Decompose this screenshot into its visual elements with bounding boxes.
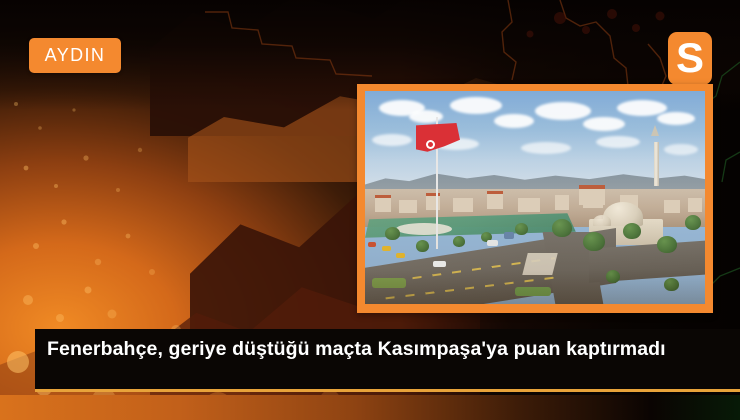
photo-vehicle xyxy=(368,242,376,247)
photo-aerial-city-view xyxy=(365,91,705,304)
brand-logo-letter: S xyxy=(676,37,704,79)
bottom-strip xyxy=(0,395,740,420)
city-badge-label: AYDIN xyxy=(45,46,106,65)
photo-vehicle xyxy=(487,240,498,246)
photo-frame xyxy=(357,84,713,313)
headline-text: Fenerbahçe, geriye düştüğü maçta Kasımpa… xyxy=(47,337,726,362)
photo-vehicle xyxy=(382,246,391,251)
photo-minaret xyxy=(654,142,659,186)
news-card: AYDIN S xyxy=(0,0,740,420)
brand-s-logo[interactable]: S xyxy=(668,32,712,85)
photo-vehicle xyxy=(504,232,514,239)
photo-vehicle xyxy=(396,253,405,258)
photo-vehicle xyxy=(433,261,446,267)
caption-bar: Fenerbahçe, geriye düştüğü maçta Kasımpa… xyxy=(35,329,740,392)
city-badge: AYDIN xyxy=(29,38,121,73)
